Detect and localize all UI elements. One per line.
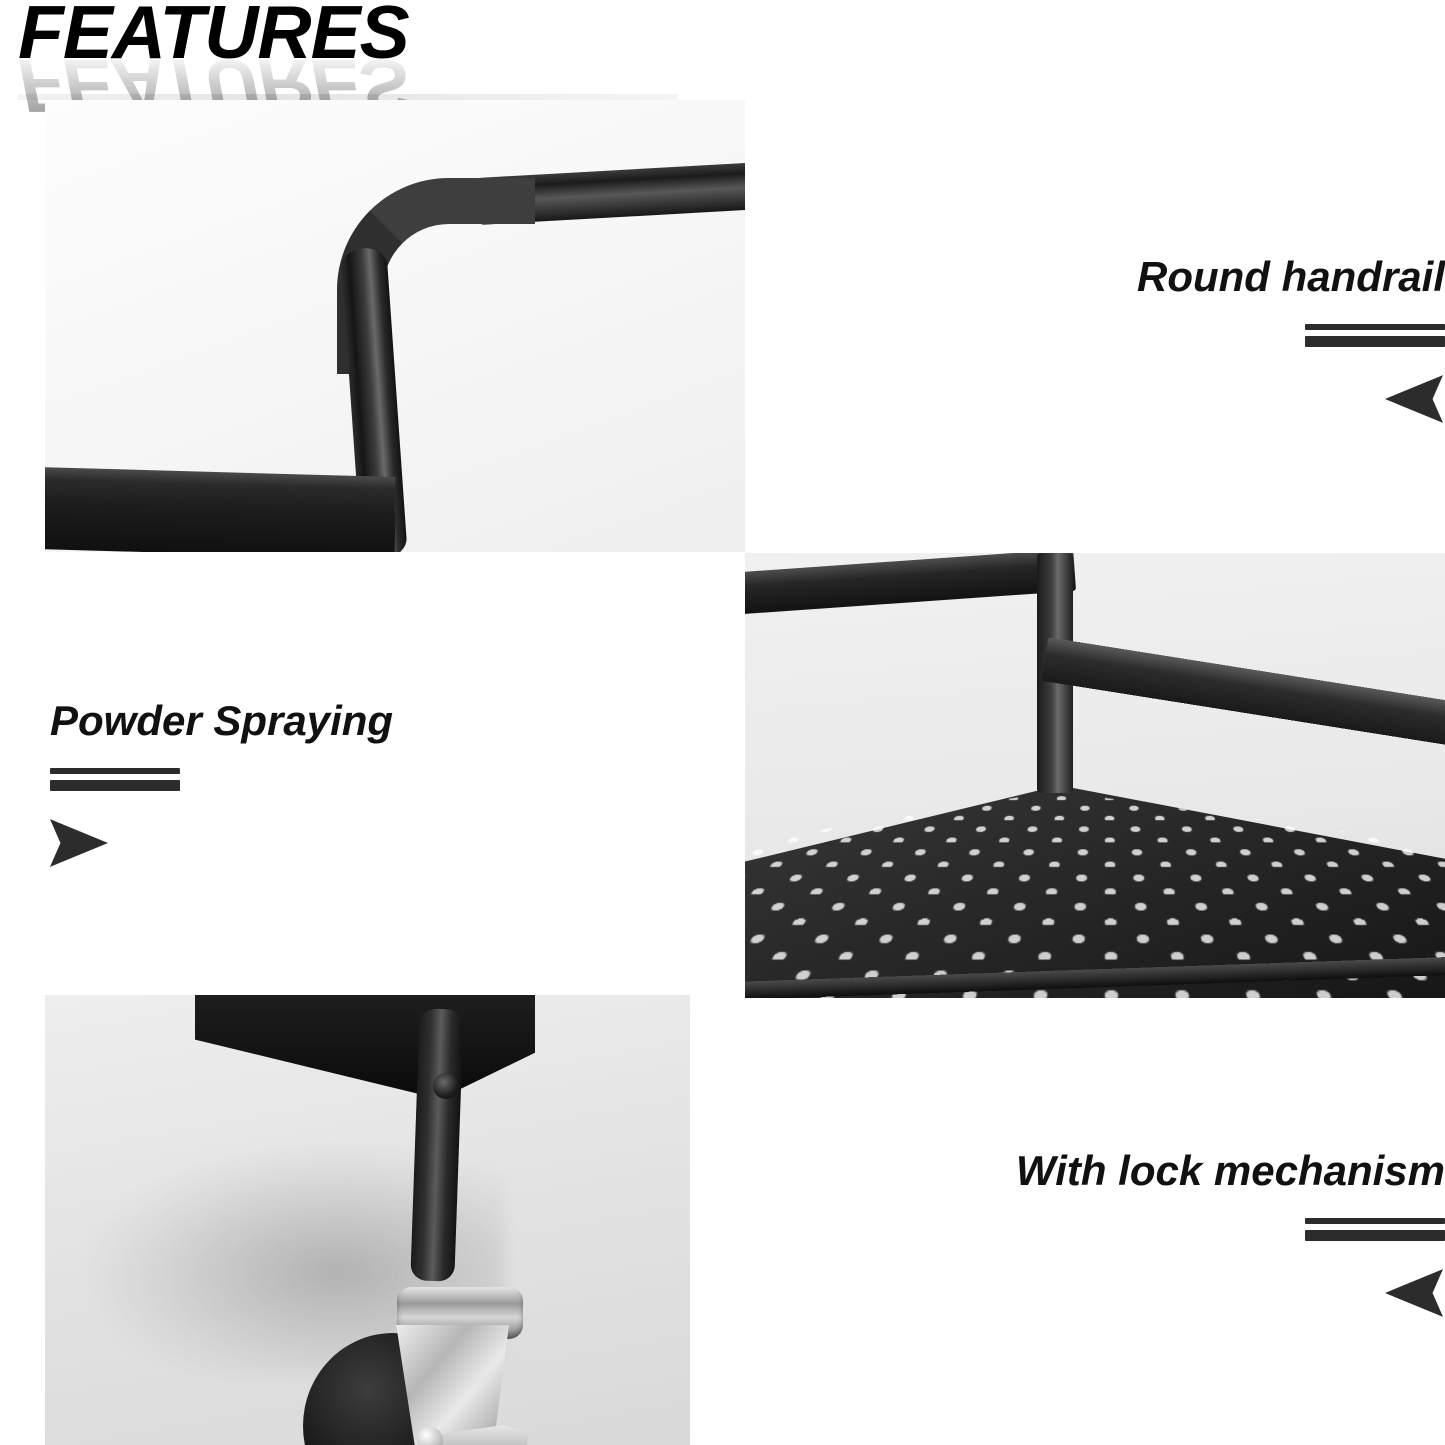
callout-label-powder-spraying: Powder Spraying bbox=[50, 696, 480, 746]
callout-powder-spraying: Powder Spraying bbox=[50, 696, 480, 869]
callout-label-round-handrail: Round handrail bbox=[1045, 252, 1445, 302]
arrow-right-icon bbox=[50, 817, 108, 869]
rule-thick bbox=[1305, 1230, 1445, 1241]
shelf-rail-right bbox=[1042, 637, 1445, 748]
leg-screw-icon bbox=[433, 1073, 459, 1099]
features-infographic: FEATURES FEATURES bbox=[0, 0, 1445, 1445]
callout-rules bbox=[1305, 1218, 1445, 1241]
shelf-rail-left bbox=[745, 553, 1076, 615]
callout-rules bbox=[50, 768, 180, 791]
rule-thin bbox=[1305, 324, 1445, 330]
callout-round-handrail: Round handrail bbox=[1045, 252, 1445, 425]
rule-thin bbox=[50, 768, 180, 774]
handrail-scene bbox=[45, 100, 745, 552]
rule-thin bbox=[1305, 1218, 1445, 1224]
callout-rules bbox=[1305, 324, 1445, 347]
page-title-block: FEATURES FEATURES bbox=[18, 0, 718, 112]
arrow-left-icon bbox=[1385, 1267, 1443, 1319]
cart-bottom-panel bbox=[195, 995, 535, 1099]
handrail-photo bbox=[45, 100, 745, 552]
caster-wheel-photo bbox=[45, 995, 690, 1445]
rule-thick bbox=[50, 780, 180, 791]
callout-label-with-lock-mechanism: With lock mechanism bbox=[930, 1146, 1445, 1196]
rule-thick bbox=[1305, 336, 1445, 347]
arrow-left-icon bbox=[1385, 373, 1443, 425]
callout-with-lock-mechanism: With lock mechanism bbox=[930, 1146, 1445, 1319]
perforated-shelf-photo bbox=[745, 553, 1445, 998]
